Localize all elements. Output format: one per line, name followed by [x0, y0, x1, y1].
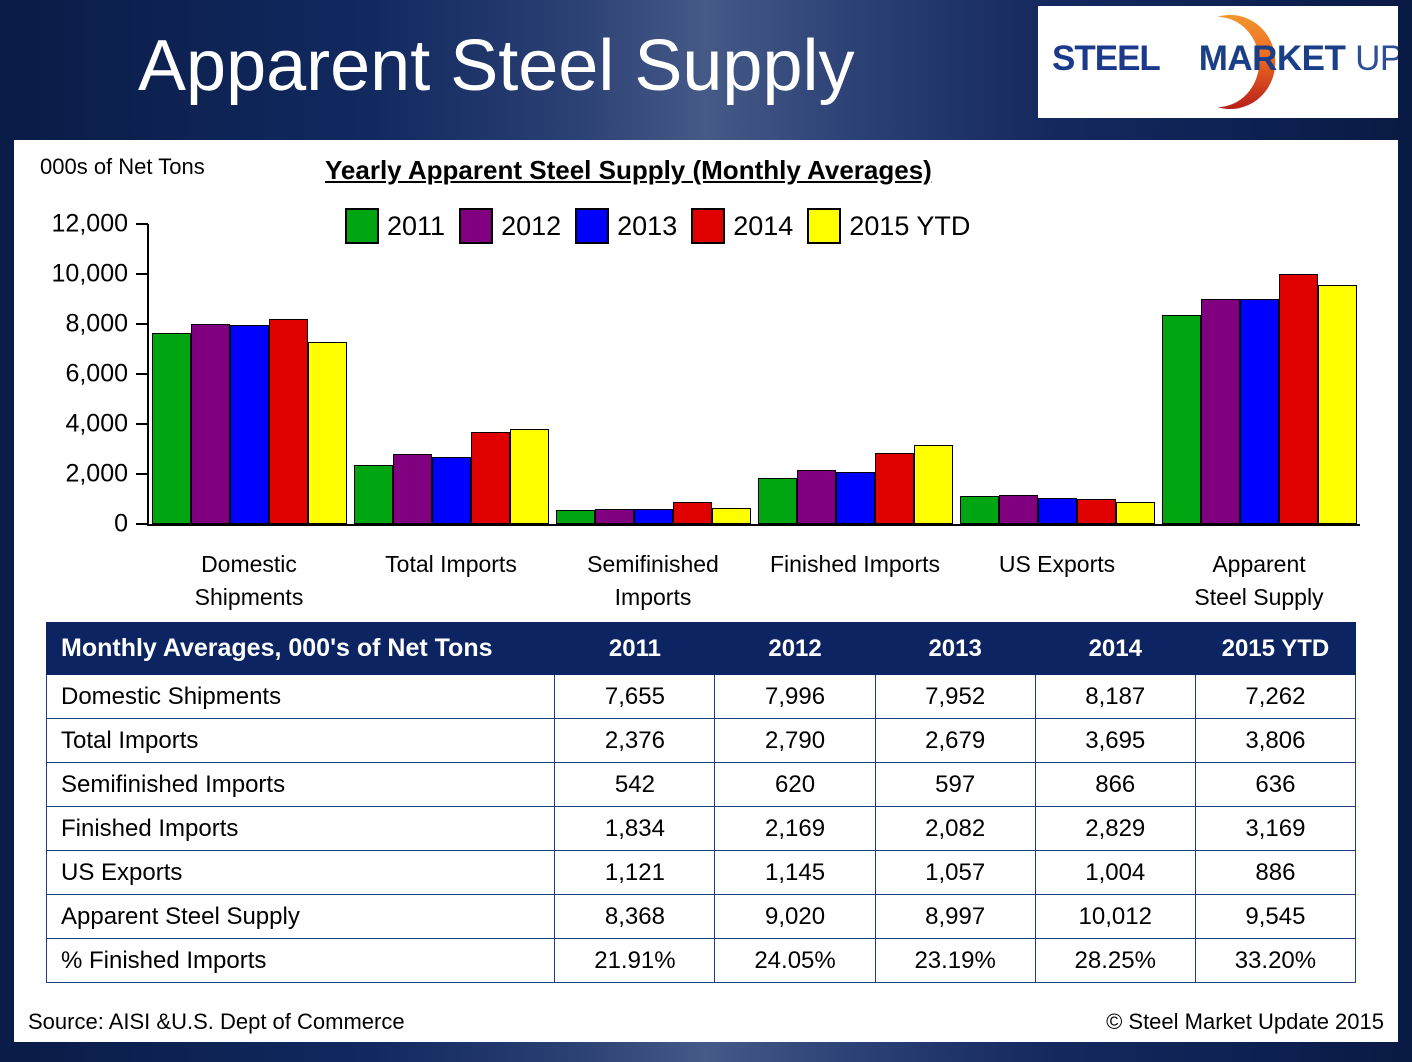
- table-header-2011: 2011: [555, 623, 715, 675]
- y-tick-label: 8,000: [8, 310, 128, 339]
- y-tick-label: 0: [8, 510, 128, 539]
- bar-us-exports-2012: [999, 495, 1038, 524]
- table-row-label: Domestic Shipments: [47, 675, 555, 719]
- y-tick-label: 2,000: [8, 460, 128, 489]
- bar-apparent-steel-supply-2014: [1279, 274, 1318, 524]
- bar-domestic-shipments-2011: [152, 333, 191, 524]
- page-title: Apparent Steel Supply: [138, 26, 854, 106]
- table-row: Total Imports2,3762,7902,6793,6953,806: [47, 719, 1356, 763]
- table-cell: 866: [1035, 763, 1195, 807]
- chart-bars: [148, 224, 1360, 524]
- table-cell: 2,169: [715, 807, 875, 851]
- y-tick-label: 12,000: [8, 210, 128, 239]
- table-cell: 1,004: [1035, 851, 1195, 895]
- table-header-row: Monthly Averages, 000's of Net Tons 2011…: [47, 623, 1356, 675]
- table-row-label: Finished Imports: [47, 807, 555, 851]
- bar-semifinished-imports-2014: [673, 502, 712, 524]
- table-cell: 2,679: [875, 719, 1035, 763]
- table-header-2012: 2012: [715, 623, 875, 675]
- table-header-2015ytd: 2015 YTD: [1195, 623, 1355, 675]
- chart-title: Yearly Apparent Steel Supply (Monthly Av…: [325, 155, 932, 186]
- y-tick-mark: [136, 523, 148, 525]
- table-cell: 8,997: [875, 895, 1035, 939]
- table-cell: 2,082: [875, 807, 1035, 851]
- table-row: US Exports1,1211,1451,0571,004886: [47, 851, 1356, 895]
- category-label-domestic-shipments: DomesticShipments: [148, 548, 350, 614]
- table-cell: 1,057: [875, 851, 1035, 895]
- table-cell: 3,169: [1195, 807, 1355, 851]
- table-cell: 33.20%: [1195, 939, 1355, 983]
- category-label-semifinished-imports: SemifinishedImports: [552, 548, 754, 614]
- bar-semifinished-imports-2015-YTD: [712, 508, 751, 524]
- table-cell: 7,996: [715, 675, 875, 719]
- table-cell: 7,262: [1195, 675, 1355, 719]
- table-cell: 3,695: [1035, 719, 1195, 763]
- y-tick-label: 4,000: [8, 410, 128, 439]
- bar-total-imports-2015-YTD: [510, 429, 549, 524]
- table-cell: 620: [715, 763, 875, 807]
- bar-semifinished-imports-2013: [634, 509, 673, 524]
- y-tick-label: 10,000: [8, 260, 128, 289]
- x-axis-line: [147, 524, 1360, 526]
- table-cell: 636: [1195, 763, 1355, 807]
- category-label-apparent-steel-supply: ApparentSteel Supply: [1158, 548, 1360, 614]
- y-tick-mark: [136, 273, 148, 275]
- table-cell: 1,145: [715, 851, 875, 895]
- slide: Apparent Steel Supply STEEL MARKET UPDAT…: [0, 0, 1412, 1062]
- y-tick-mark: [136, 373, 148, 375]
- table-header-2014: 2014: [1035, 623, 1195, 675]
- bar-finished-imports-2012: [797, 470, 836, 524]
- logo-wordmark: STEEL MARKET UPDATE: [1052, 39, 1396, 79]
- slide-header: Apparent Steel Supply STEEL MARKET UPDAT…: [0, 0, 1412, 128]
- category-label-us-exports: US Exports: [956, 548, 1158, 581]
- logo-update-text: UPDATE: [1355, 39, 1398, 78]
- table-cell: 1,834: [555, 807, 715, 851]
- category-label-line: Domestic: [148, 548, 350, 581]
- category-label-line: Finished Imports: [754, 548, 956, 581]
- table-cell: 597: [875, 763, 1035, 807]
- logo-steel-text: STEEL: [1052, 39, 1160, 78]
- steel-market-update-logo: STEEL MARKET UPDATE: [1038, 6, 1398, 118]
- table-cell: 24.05%: [715, 939, 875, 983]
- table-cell: 1,121: [555, 851, 715, 895]
- table-row: Domestic Shipments7,6557,9967,9528,1877,…: [47, 675, 1356, 719]
- bar-domestic-shipments-2015-YTD: [308, 342, 347, 524]
- table-cell: 9,545: [1195, 895, 1355, 939]
- table-header-rowlabel: Monthly Averages, 000's of Net Tons: [47, 623, 555, 675]
- table-cell: 28.25%: [1035, 939, 1195, 983]
- bar-finished-imports-2015-YTD: [914, 445, 953, 524]
- category-label-line: US Exports: [956, 548, 1158, 581]
- bar-semifinished-imports-2011: [556, 510, 595, 524]
- y-tick-mark: [136, 323, 148, 325]
- category-label-finished-imports: Finished Imports: [754, 548, 956, 581]
- bar-domestic-shipments-2013: [230, 325, 269, 524]
- table-cell: 542: [555, 763, 715, 807]
- bar-apparent-steel-supply-2015-YTD: [1318, 285, 1357, 524]
- category-label-line: Semifinished: [552, 548, 754, 581]
- table-row-label: Apparent Steel Supply: [47, 895, 555, 939]
- category-label-line: Steel Supply: [1158, 581, 1360, 614]
- table-cell: 9,020: [715, 895, 875, 939]
- table-row-label: Semifinished Imports: [47, 763, 555, 807]
- bar-apparent-steel-supply-2012: [1201, 299, 1240, 525]
- table-cell: 8,187: [1035, 675, 1195, 719]
- table-cell: 2,376: [555, 719, 715, 763]
- table-cell: 23.19%: [875, 939, 1035, 983]
- bar-total-imports-2014: [471, 432, 510, 524]
- table-row: Apparent Steel Supply8,3689,0208,99710,0…: [47, 895, 1356, 939]
- table-row: Semifinished Imports542620597866636: [47, 763, 1356, 807]
- y-tick-mark: [136, 473, 148, 475]
- bar-finished-imports-2011: [758, 478, 797, 524]
- category-label-total-imports: Total Imports: [350, 548, 552, 581]
- bar-semifinished-imports-2012: [595, 509, 634, 525]
- category-label-line: Imports: [552, 581, 754, 614]
- table-header-2013: 2013: [875, 623, 1035, 675]
- bar-finished-imports-2013: [836, 472, 875, 524]
- bar-finished-imports-2014: [875, 453, 914, 524]
- table-cell: 21.91%: [555, 939, 715, 983]
- table-row-label: Total Imports: [47, 719, 555, 763]
- y-axis-unit-label: 000s of Net Tons: [40, 154, 205, 180]
- table-cell: 10,012: [1035, 895, 1195, 939]
- bar-total-imports-2011: [354, 465, 393, 524]
- y-tick-label: 6,000: [8, 360, 128, 389]
- table-row: Finished Imports1,8342,1692,0822,8293,16…: [47, 807, 1356, 851]
- bar-domestic-shipments-2014: [269, 319, 308, 524]
- y-tick-mark: [136, 223, 148, 225]
- bar-us-exports-2013: [1038, 498, 1077, 524]
- bar-us-exports-2015-YTD: [1116, 502, 1155, 524]
- source-note: Source: AISI &U.S. Dept of Commerce: [28, 1009, 405, 1035]
- table-cell: 7,952: [875, 675, 1035, 719]
- table-cell: 8,368: [555, 895, 715, 939]
- copyright-note: © Steel Market Update 2015: [1106, 1009, 1384, 1035]
- table-cell: 886: [1195, 851, 1355, 895]
- table-cell: 3,806: [1195, 719, 1355, 763]
- bar-total-imports-2013: [432, 457, 471, 524]
- bar-us-exports-2014: [1077, 499, 1116, 524]
- table-row-label: % Finished Imports: [47, 939, 555, 983]
- bar-domestic-shipments-2012: [191, 324, 230, 524]
- category-label-line: Apparent: [1158, 548, 1360, 581]
- table-row-label: US Exports: [47, 851, 555, 895]
- bar-apparent-steel-supply-2013: [1240, 299, 1279, 524]
- category-label-line: Total Imports: [350, 548, 552, 581]
- table-cell: 7,655: [555, 675, 715, 719]
- bar-total-imports-2012: [393, 454, 432, 524]
- category-label-line: Shipments: [148, 581, 350, 614]
- bar-us-exports-2011: [960, 496, 999, 524]
- table-row: % Finished Imports21.91%24.05%23.19%28.2…: [47, 939, 1356, 983]
- table-cell: 2,829: [1035, 807, 1195, 851]
- bar-apparent-steel-supply-2011: [1162, 315, 1201, 524]
- table-cell: 2,790: [715, 719, 875, 763]
- logo-market-text: MARKET: [1199, 39, 1346, 78]
- y-tick-mark: [136, 423, 148, 425]
- data-table: Monthly Averages, 000's of Net Tons 2011…: [46, 622, 1356, 983]
